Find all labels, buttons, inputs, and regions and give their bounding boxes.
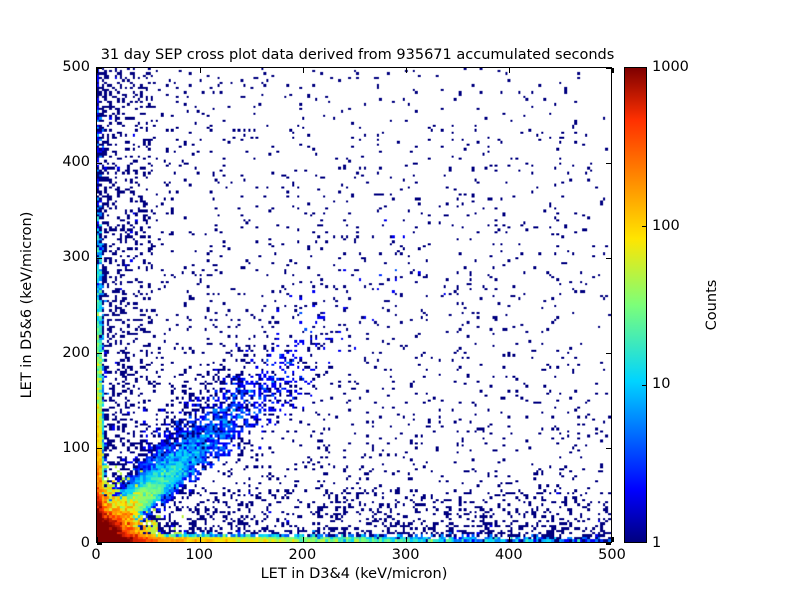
y-axis-tick-label: 200 bbox=[90, 345, 118, 361]
colorbar-gradient bbox=[625, 68, 646, 542]
colorbar-tick-mark bbox=[642, 385, 646, 386]
x-axis-tick-mark bbox=[509, 68, 510, 73]
y-axis-tick-label: 0 bbox=[90, 535, 99, 551]
colorbar-tick-label: 1 bbox=[652, 535, 661, 551]
y-axis-label: LET in D5&6 (keV/micron) bbox=[19, 212, 35, 399]
colorbar bbox=[624, 67, 647, 543]
x-axis-tick-mark bbox=[406, 68, 407, 73]
x-axis-tick-label: 400 bbox=[495, 547, 523, 563]
plot-axes bbox=[96, 67, 612, 543]
y-axis-tick-label: 300 bbox=[90, 249, 118, 265]
x-axis-tick-mark bbox=[303, 68, 304, 73]
x-axis-tick-label: 200 bbox=[289, 547, 317, 563]
colorbar-tick-label: 10 bbox=[652, 376, 670, 392]
x-axis-tick-mark bbox=[406, 537, 407, 542]
x-axis-tick-mark bbox=[303, 537, 304, 542]
colorbar-tick-label: 100 bbox=[652, 218, 680, 234]
x-axis-tick-label: 300 bbox=[392, 547, 420, 563]
y-axis-tick-mark bbox=[606, 258, 611, 259]
x-axis-tick-mark bbox=[200, 537, 201, 542]
x-axis-label: LET in D3&4 (keV/micron) bbox=[96, 566, 612, 582]
colorbar-label: Counts bbox=[704, 280, 720, 331]
y-axis-tick-label: 400 bbox=[90, 154, 118, 170]
y-axis-tick-label: 500 bbox=[90, 59, 118, 75]
y-axis-tick-mark bbox=[606, 353, 611, 354]
x-axis-tick-label: 100 bbox=[185, 547, 213, 563]
y-axis-tick-mark bbox=[606, 67, 611, 68]
figure-canvas: 31 day SEP cross plot data derived from … bbox=[0, 0, 800, 600]
colorbar-tick-mark bbox=[642, 226, 646, 227]
x-axis-tick-mark bbox=[200, 68, 201, 73]
y-axis-tick-mark bbox=[606, 163, 611, 164]
y-axis-tick-mark bbox=[606, 543, 611, 544]
density-scatter-plot bbox=[97, 68, 611, 542]
x-axis-tick-mark bbox=[612, 68, 613, 73]
x-axis-tick-mark bbox=[612, 537, 613, 542]
colorbar-tick-label: 1000 bbox=[652, 59, 689, 75]
x-axis-tick-label: 500 bbox=[598, 547, 626, 563]
y-axis-tick-label: 100 bbox=[90, 440, 118, 456]
y-axis-tick-mark bbox=[606, 448, 611, 449]
x-axis-tick-mark bbox=[509, 537, 510, 542]
